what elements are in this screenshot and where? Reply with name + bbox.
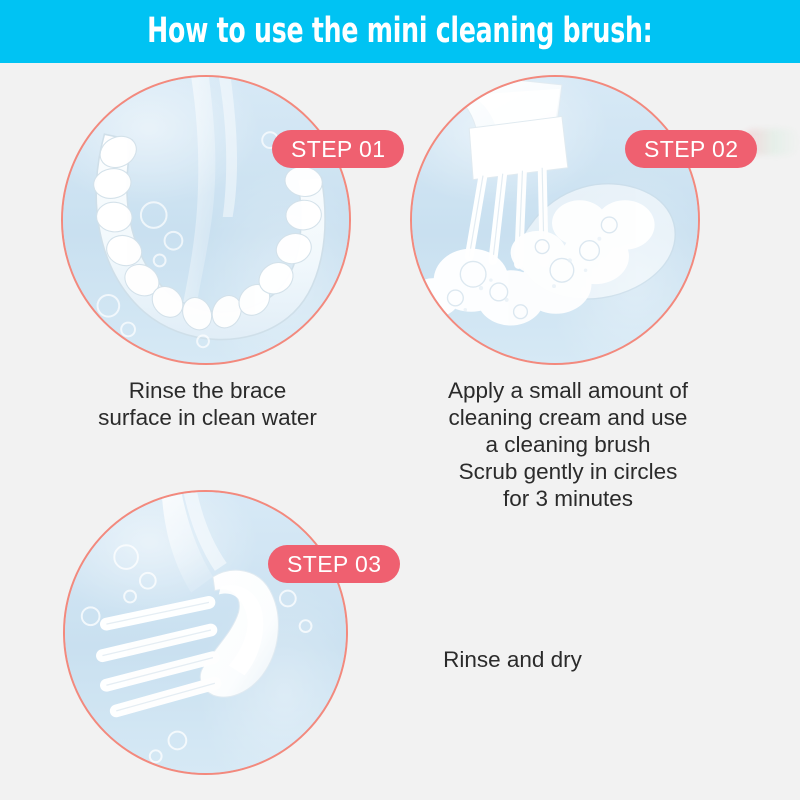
step-3-photo [65,492,346,773]
step-2-photo [412,77,698,363]
step-3-caption: Rinse and dry [400,646,625,673]
step-1-image-circle [61,75,351,365]
step-1-photo [63,77,349,363]
header-banner: How to use the mini cleaning brush: [0,0,800,63]
step-1-badge: STEP 01 [272,130,404,168]
step-3-image-circle [63,490,348,775]
brush-and-foam-illustration [412,77,698,363]
step-3-badge: STEP 03 [268,545,400,583]
brush-rinse-illustration [65,492,346,773]
step-2-image-circle [410,75,700,365]
page-title: How to use the mini cleaning brush: [147,14,652,49]
step-2-caption: Apply a small amount of cleaning cream a… [403,377,733,512]
infographic-page: How to use the mini cleaning brush: [0,0,800,800]
step-1-caption: Rinse the brace surface in clean water [45,377,370,431]
step-2-badge: STEP 02 [625,130,757,168]
aligner-illustration [63,77,349,363]
